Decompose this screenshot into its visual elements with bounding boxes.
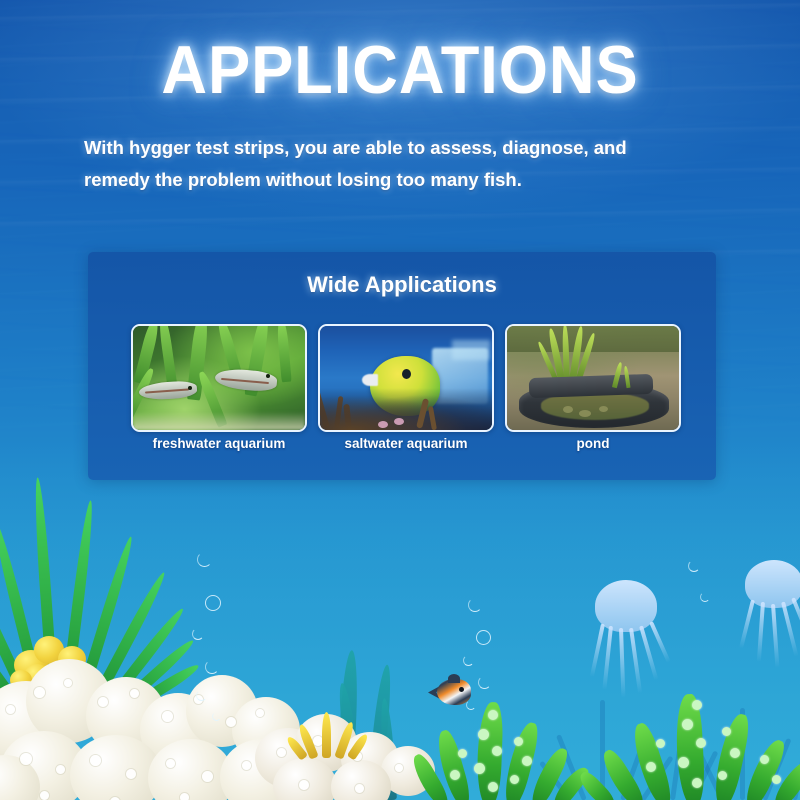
- freshwater-substrate: [133, 412, 305, 430]
- caption-pond: pond: [505, 436, 681, 451]
- clownfish: [437, 679, 471, 705]
- yellow-fan-coral: [300, 706, 356, 758]
- panel-heading: Wide Applications: [88, 272, 716, 298]
- seaweed-cluster-right: [600, 676, 800, 800]
- caption-freshwater: freshwater aquarium: [131, 436, 307, 451]
- thumbnail-pond: [505, 324, 681, 432]
- product-infographic: APPLICATIONS With hygger test strips, yo…: [0, 0, 800, 800]
- wide-applications-panel: Wide Applications: [88, 252, 716, 480]
- thumbnail-saltwater-aquarium: [318, 324, 494, 432]
- page-title: APPLICATIONS: [28, 32, 772, 108]
- application-thumbnail-list: freshwater aquarium: [88, 324, 716, 474]
- page-subtitle: With hygger test strips, you are able to…: [84, 132, 724, 196]
- thumbnail-freshwater-aquarium: [131, 324, 307, 432]
- subtitle-line-2: remedy the problem without losing too ma…: [84, 164, 724, 196]
- application-item-pond: pond: [505, 324, 681, 432]
- application-item-freshwater: freshwater aquarium: [131, 324, 307, 432]
- fish-eye: [402, 369, 411, 379]
- subtitle-line-1: With hygger test strips, you are able to…: [84, 137, 627, 158]
- caption-saltwater: saltwater aquarium: [318, 436, 494, 451]
- jellyfish-right: [745, 560, 800, 660]
- jellyfish-left: [595, 580, 669, 690]
- application-item-saltwater: saltwater aquarium: [318, 324, 494, 432]
- saltwater-coral-bed: [320, 388, 492, 430]
- reef-scene: [0, 500, 800, 800]
